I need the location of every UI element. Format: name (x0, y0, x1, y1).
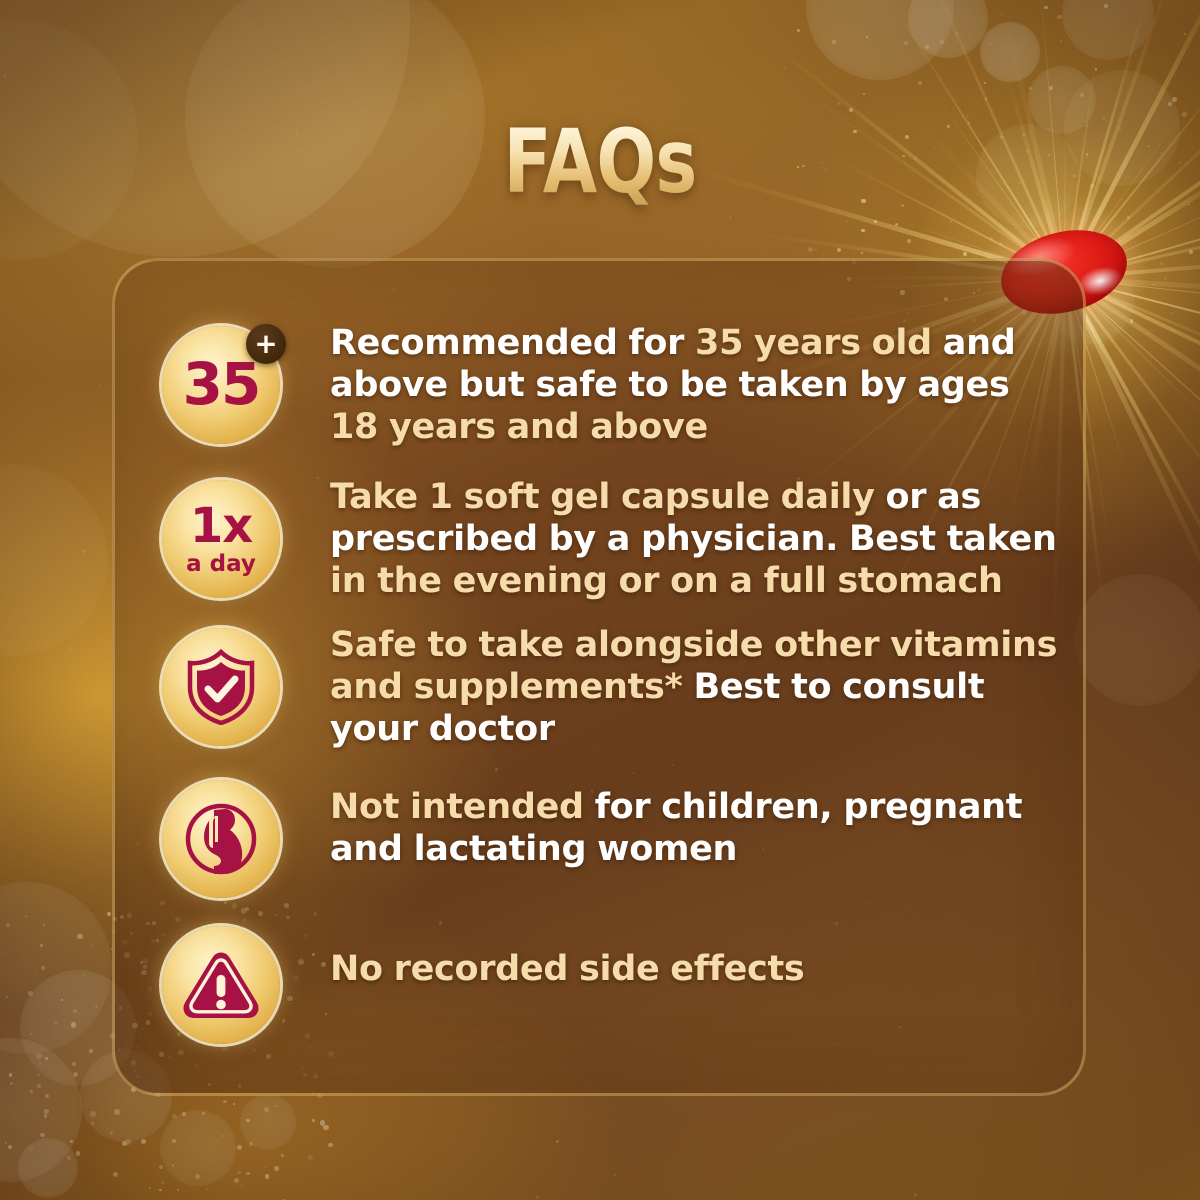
warning-triangle-icon (162, 926, 280, 1044)
faq-text-segment: Recommended for (330, 323, 695, 363)
faq-text-segment: 35 years old (695, 323, 932, 363)
faq-icon-cell (112, 922, 330, 1044)
pregnant-woman-glyph (181, 799, 261, 879)
faq-item-side-effects: No recorded side effects (112, 922, 1080, 1044)
badge-frequency: 1x (190, 502, 252, 550)
faq-item-interactions: Safe to take alongside other vitamins an… (112, 624, 1080, 750)
faq-item-restrictions: Not intended for children, pregnant and … (112, 776, 1080, 898)
page-title: FAQs (120, 118, 1080, 206)
shield-check-glyph (185, 649, 257, 725)
faq-text-segment: No recorded side effects (330, 949, 804, 989)
faq-text-segment: Take 1 soft gel capsule daily (330, 477, 886, 517)
plus-badge-icon: + (246, 324, 286, 364)
faq-text: Recommended for 35 years old and above b… (330, 322, 1080, 448)
badge-period: a day (186, 553, 256, 576)
faq-icon-cell (112, 624, 330, 746)
faq-text: Not intended for children, pregnant and … (330, 776, 1080, 870)
faq-icon-cell (112, 776, 330, 898)
faq-text-segment: 18 years and above (330, 407, 708, 447)
faq-item-age: 35 + Recommended for 35 years old and ab… (112, 322, 1080, 448)
warning-triangle-glyph (181, 949, 261, 1021)
badge-number: 35 (183, 355, 260, 413)
faq-text-segment: in the evening or on a full stomach (330, 561, 1003, 601)
faq-text: Take 1 soft gel capsule daily or as pres… (330, 476, 1080, 602)
once-a-day-badge-icon: 1x a day (162, 480, 280, 598)
age-35-plus-badge-icon: 35 + (162, 326, 280, 444)
faq-icon-cell: 1x a day (112, 476, 330, 598)
faq-list: 35 + Recommended for 35 years old and ab… (112, 258, 1080, 1090)
faq-text-segment: Not intended (330, 787, 595, 827)
no-pregnant-women-icon (162, 780, 280, 898)
faq-icon-cell: 35 + (112, 322, 330, 444)
faq-text: No recorded side effects (330, 922, 1080, 990)
faq-item-dosage: 1x a day Take 1 soft gel capsule daily o… (112, 476, 1080, 602)
faq-poster: FAQs 35 + Recommended for 35 years old a… (0, 0, 1200, 1200)
shield-check-icon (162, 628, 280, 746)
faq-text: Safe to take alongside other vitamins an… (330, 624, 1080, 750)
